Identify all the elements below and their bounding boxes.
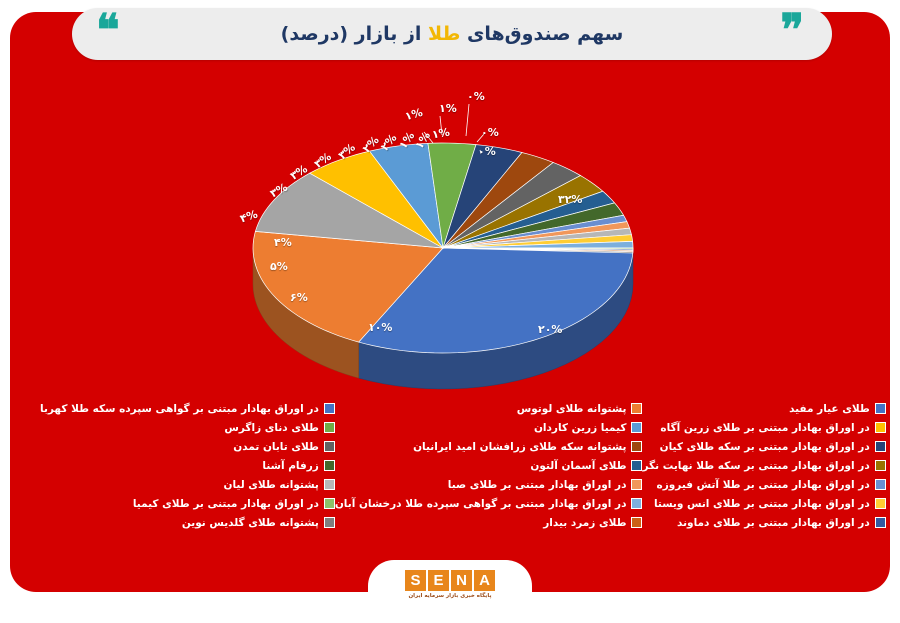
legend-item[interactable]: در اوراق بهادار مبتنی بر طلای دماوند xyxy=(642,514,885,531)
legend-item-label: پشتوانه سکه طلای زرافشان امید ایرانیان xyxy=(413,441,626,453)
legend-item[interactable]: طلای زمرد بیدار xyxy=(335,514,643,531)
legend-color-swatch xyxy=(631,498,642,509)
logo-letter: N xyxy=(451,570,472,591)
logo-letters: SENA xyxy=(405,570,495,591)
legend-item[interactable]: زرفام آشنا xyxy=(40,457,335,474)
legend-color-swatch xyxy=(324,460,335,471)
legend-item[interactable]: در اوراق بهادار مبتنی بر گواهی سپرده طلا… xyxy=(335,495,643,512)
page-title: سهم صندوق‌های طلا از بازار (درصد) xyxy=(281,23,624,45)
legend-color-swatch xyxy=(324,517,335,528)
legend-color-swatch xyxy=(324,422,335,433)
legend-item[interactable]: پشتوانه طلای لوتوس xyxy=(335,400,643,417)
legend-color-swatch xyxy=(631,517,642,528)
legend-item-label: طلای زمرد بیدار xyxy=(543,517,626,529)
pie-percent-label: ۰% xyxy=(478,145,496,158)
legend-item-label: پشتوانه طلای لیان xyxy=(224,479,319,491)
pie-percent-label: ۶% xyxy=(290,291,308,304)
legend-item[interactable]: در اوراق بهادار مبتنی بر طلای صبا xyxy=(335,476,643,493)
pie-percent-label: ۱% xyxy=(439,102,457,115)
pie-percent-label: ۵% xyxy=(270,260,288,273)
legend-color-swatch xyxy=(875,517,886,528)
legend-color-swatch xyxy=(875,403,886,414)
legend-item-label: طلای آسمان آلتون xyxy=(530,460,626,472)
leader-line xyxy=(466,104,469,136)
quote-mark-left-icon: ❝ xyxy=(96,16,120,46)
legend-item-label: در اوراق بهادار مبتنی بر گواهی سپرده سکه… xyxy=(40,403,319,415)
legend-item-label: در اوراق بهادار مبتنی بر طلای دماوند xyxy=(677,517,870,529)
legend-item[interactable]: در اوراق بهادار مبتنی بر طلای انس ویستا xyxy=(642,495,885,512)
legend-item[interactable]: پشتوانه سکه طلای زرافشان امید ایرانیان xyxy=(335,438,643,455)
legend-item[interactable]: طلای دنای زاگرس xyxy=(40,419,335,436)
legend-color-swatch xyxy=(631,460,642,471)
pie-percent-label: ۰% xyxy=(481,126,499,139)
pie-percent-label: ۴% xyxy=(274,236,292,249)
legend-item-label: پشتوانه طلای گلدیس نوین xyxy=(182,517,319,529)
infographic-canvas: سهم صندوق‌های طلا از بازار (درصد) ❝ ❞ ۳۲… xyxy=(0,0,900,623)
legend-color-swatch xyxy=(324,479,335,490)
legend-color-swatch xyxy=(631,403,642,414)
legend-item-label: زرفام آشنا xyxy=(262,460,318,472)
legend-item[interactable]: طلای آسمان آلتون xyxy=(335,457,643,474)
legend-color-swatch xyxy=(324,498,335,509)
legend-item[interactable]: در اوراق بهادار مبتنی بر سکه طلا نهایت ن… xyxy=(642,457,885,474)
legend-color-swatch xyxy=(324,441,335,452)
logo-letter: A xyxy=(474,570,495,591)
legend-item[interactable]: طلای عیار مفید xyxy=(642,400,885,417)
title-prefix: سهم صندوق‌های xyxy=(460,23,623,45)
legend-color-swatch xyxy=(875,460,886,471)
title-suffix: از بازار (درصد) xyxy=(281,23,428,45)
legend-item[interactable]: در اوراق بهادار مبتنی بر سکه طلای کیان xyxy=(642,438,885,455)
legend-item-label: پشتوانه طلای لوتوس xyxy=(517,403,627,415)
legend-item-label: طلای عیار مفید xyxy=(789,403,870,415)
legend-color-swatch xyxy=(875,479,886,490)
legend-item[interactable]: در اوراق بهادار مبتنی بر گواهی سپرده سکه… xyxy=(40,400,335,417)
legend-color-swatch xyxy=(631,479,642,490)
legend-item[interactable]: پشتوانه طلای لیان xyxy=(40,476,335,493)
legend-column-middle: پشتوانه طلای لوتوسکیمیا زرین کاردانپشتوا… xyxy=(335,400,643,540)
logo-letter: E xyxy=(428,570,449,591)
pie-percent-label: ۱۰% xyxy=(368,321,392,334)
legend-column-left: طلای عیار مفیددر اوراق بهادار مبتنی بر ط… xyxy=(642,400,885,540)
legend-item-label: در اوراق بهادار مبتنی بر سکه طلای کیان xyxy=(660,441,870,453)
legend-item-label: در اوراق بهادار مبتنی بر طلا آتش فیروزه xyxy=(657,479,870,491)
legend-color-swatch xyxy=(631,441,642,452)
legend-color-swatch xyxy=(875,422,886,433)
legend-item-label: طلای تابان تمدن xyxy=(233,441,319,453)
legend-item[interactable]: در اوراق بهادار مبتنی بر طلا آتش فیروزه xyxy=(642,476,885,493)
legend-item[interactable]: کیمیا زرین کاردان xyxy=(335,419,643,436)
pie-chart: ۳۲%۲۰%۱۰%۶%۵%۴%۴%۳%۳%۳%۳%۲%۲%۱%۱%۱%۱%۱%۰… xyxy=(228,88,658,398)
pie-top-faces xyxy=(253,143,633,353)
legend-column-right: در اوراق بهادار مبتنی بر گواهی سپرده سکه… xyxy=(40,400,335,540)
legend-color-swatch xyxy=(875,441,886,452)
legend-item[interactable]: در اوراق بهادار مبتنی بر طلای کیمیا xyxy=(40,495,335,512)
chart-legend: در اوراق بهادار مبتنی بر گواهی سپرده سکه… xyxy=(40,400,860,540)
legend-color-swatch xyxy=(631,422,642,433)
legend-color-swatch xyxy=(324,403,335,414)
legend-item-label: در اوراق بهادار مبتنی بر سکه طلا نهایت ن… xyxy=(642,460,869,472)
legend-item-label: کیمیا زرین کاردان xyxy=(534,422,627,434)
legend-item[interactable]: در اوراق بهادار مبتنی بر طلای زرین آگاه xyxy=(642,419,885,436)
legend-item-label: در اوراق بهادار مبتنی بر طلای کیمیا xyxy=(133,498,319,510)
title-gold-word: طلا xyxy=(428,23,460,45)
title-bar: سهم صندوق‌های طلا از بازار (درصد) xyxy=(72,8,832,60)
sena-logo: SENA پایگاه خبری بازار سرمایه ایران xyxy=(396,570,504,610)
legend-item-label: در اوراق بهادار مبتنی بر طلای انس ویستا xyxy=(654,498,870,510)
legend-item[interactable]: طلای تابان تمدن xyxy=(40,438,335,455)
legend-color-swatch xyxy=(875,498,886,509)
legend-item-label: در اوراق بهادار مبتنی بر گواهی سپرده طلا… xyxy=(335,498,627,510)
pie-percent-label: ۰% xyxy=(467,90,485,103)
legend-item-label: در اوراق بهادار مبتنی بر طلای زرین آگاه xyxy=(660,422,869,434)
logo-letter: S xyxy=(405,570,426,591)
pie-percent-label: ۳۲% xyxy=(558,193,582,206)
logo-subtitle: پایگاه خبری بازار سرمایه ایران xyxy=(408,593,491,599)
legend-item-label: در اوراق بهادار مبتنی بر طلای صبا xyxy=(448,479,627,491)
quote-mark-right-icon: ❞ xyxy=(780,16,804,46)
legend-item-label: طلای دنای زاگرس xyxy=(224,422,318,434)
legend-item[interactable]: پشتوانه طلای گلدیس نوین xyxy=(40,514,335,531)
pie-percent-label: ۲۰% xyxy=(538,323,562,336)
